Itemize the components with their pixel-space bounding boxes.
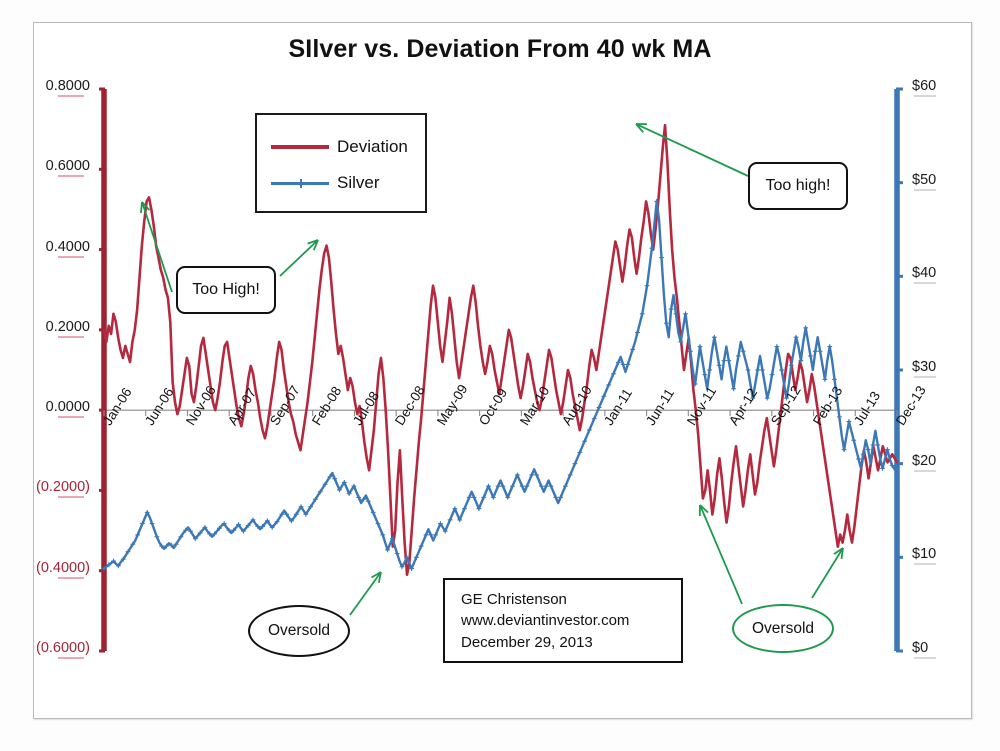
tick-underline xyxy=(58,416,84,418)
annotation-oversold-right: Oversold xyxy=(732,604,834,653)
right-tick-0: $60 xyxy=(912,78,982,97)
legend-item-silver[interactable]: Silver xyxy=(271,173,380,193)
tick-underline xyxy=(58,175,84,177)
annotation-arrow-1 xyxy=(280,240,318,276)
tick-underline xyxy=(914,282,936,284)
tick-underline xyxy=(58,577,84,579)
left-tick-label: 0.2000 xyxy=(46,319,90,335)
tick-underline xyxy=(914,563,936,565)
annotation-arrow-3 xyxy=(350,572,381,615)
left-tick-label: (0.2000) xyxy=(36,479,90,495)
tick-underline xyxy=(58,95,84,97)
chart-page: SIlver vs. Deviation From 40 wk MA 0.800… xyxy=(0,0,1000,751)
annotation-arrow-2 xyxy=(636,124,748,176)
annotation-arrow-layer xyxy=(141,124,843,615)
right-tick-label: $30 xyxy=(912,359,936,375)
legend-label-silver: Silver xyxy=(337,173,380,193)
credit-date: December 29, 2013 xyxy=(461,632,681,653)
legend-label-deviation: Deviation xyxy=(337,137,408,157)
right-tick-3: $30 xyxy=(912,359,982,378)
left-tick-2: 0.4000 xyxy=(10,239,90,258)
right-tick-label: $10 xyxy=(912,546,936,562)
annotation-arrow-5 xyxy=(812,548,843,598)
tick-underline xyxy=(914,189,936,191)
left-tick-label: (0.4000) xyxy=(36,560,90,576)
annotation-arrow-0 xyxy=(141,202,172,292)
tick-underline xyxy=(914,657,936,659)
right-tick-label: $50 xyxy=(912,172,936,188)
right-tick-label: $20 xyxy=(912,453,936,469)
credit-box: GE Christenson www.deviantinvestor.com D… xyxy=(443,578,683,663)
right-tick-label: $40 xyxy=(912,265,936,281)
legend-item-deviation[interactable]: Deviation xyxy=(271,137,408,157)
left-tick-label: 0.0000 xyxy=(46,399,90,415)
tick-underline xyxy=(58,256,84,258)
annotation-too-high-left: Too High! xyxy=(176,266,276,314)
credit-author: GE Christenson xyxy=(461,589,681,610)
left-tick-label: 0.8000 xyxy=(46,78,90,94)
right-tick-label: $0 xyxy=(912,640,928,656)
chart-legend: Deviation Silver xyxy=(255,113,427,213)
right-tick-2: $40 xyxy=(912,265,982,284)
tick-underline xyxy=(914,95,936,97)
right-tick-6: $0 xyxy=(912,640,982,659)
tick-underline xyxy=(58,336,84,338)
left-tick-6: (0.4000) xyxy=(10,560,90,579)
tick-underline xyxy=(58,496,84,498)
credit-site: www.deviantinvestor.com xyxy=(461,610,681,631)
left-tick-7: (0.6000) xyxy=(10,640,90,659)
left-tick-3: 0.2000 xyxy=(10,319,90,338)
legend-swatch-silver xyxy=(271,182,329,185)
right-tick-label: $60 xyxy=(912,78,936,94)
left-tick-0: 0.8000 xyxy=(10,78,90,97)
annotation-arrow-4 xyxy=(700,505,742,604)
left-tick-1: 0.6000 xyxy=(10,158,90,177)
annotation-too-high-right: Too high! xyxy=(748,162,848,210)
annotation-oversold-left: Oversold xyxy=(248,605,350,657)
tick-underline xyxy=(914,470,936,472)
right-tick-5: $10 xyxy=(912,546,982,565)
right-tick-4: $20 xyxy=(912,453,982,472)
legend-swatch-deviation xyxy=(271,145,329,149)
tick-underline xyxy=(58,657,84,659)
left-tick-label: (0.6000) xyxy=(36,640,90,656)
left-tick-label: 0.4000 xyxy=(46,239,90,255)
left-tick-label: 0.6000 xyxy=(46,158,90,174)
left-tick-5: (0.2000) xyxy=(10,479,90,498)
right-tick-1: $50 xyxy=(912,172,982,191)
tick-underline xyxy=(914,376,936,378)
left-tick-4: 0.0000 xyxy=(10,399,90,418)
